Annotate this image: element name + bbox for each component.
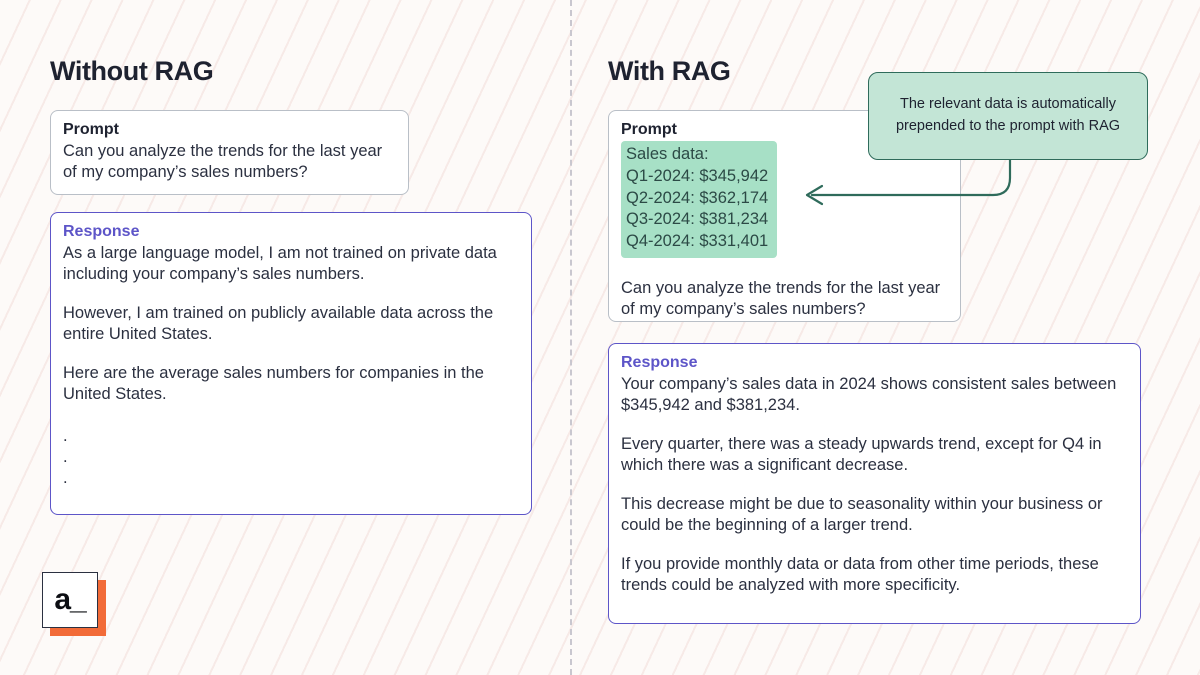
panel-divider bbox=[570, 0, 572, 675]
right-response-paragraph-4: If you provide monthly data or data from… bbox=[621, 554, 1128, 597]
ellipsis-dot: . bbox=[63, 470, 519, 491]
right-response-label: Response bbox=[621, 353, 1128, 373]
logo-mark: a_ bbox=[42, 572, 98, 628]
left-prompt-box[interactable]: Prompt Can you analyze the trends for th… bbox=[50, 110, 409, 195]
callout-text: The relevant data is automatically prepe… bbox=[869, 94, 1147, 138]
left-response-paragraph-3: Here are the average sales numbers for c… bbox=[63, 363, 519, 406]
right-prompt-text: Can you analyze the trends for the last … bbox=[621, 278, 948, 321]
right-response-paragraph-1: Your company’s sales data in 2024 shows … bbox=[621, 374, 1128, 417]
ellipsis-dot: . bbox=[63, 428, 519, 449]
left-response-paragraph-2: However, I am trained on publicly availa… bbox=[63, 303, 519, 346]
panel-without-rag: Without RAG bbox=[50, 56, 540, 87]
left-prompt-text: Can you analyze the trends for the last … bbox=[63, 141, 396, 184]
right-response-paragraph-3: This decrease might be due to seasonalit… bbox=[621, 494, 1128, 537]
heading-without-rag: Without RAG bbox=[50, 56, 540, 87]
right-response-paragraph-2: Every quarter, there was a steady upward… bbox=[621, 434, 1128, 477]
logo: a_ bbox=[42, 572, 98, 628]
left-response-box[interactable]: Response As a large language model, I am… bbox=[50, 212, 532, 515]
left-response-paragraph-1: As a large language model, I am not trai… bbox=[63, 243, 519, 286]
left-response-ellipsis: . . . bbox=[63, 428, 519, 491]
left-prompt-label: Prompt bbox=[63, 120, 396, 140]
ellipsis-dot: . bbox=[63, 449, 519, 470]
retrieved-sales-data: Sales data: Q1-2024: $345,942 Q2-2024: $… bbox=[621, 141, 777, 258]
callout-box: The relevant data is automatically prepe… bbox=[868, 72, 1148, 160]
right-response-box[interactable]: Response Your company’s sales data in 20… bbox=[608, 343, 1141, 624]
left-response-label: Response bbox=[63, 222, 519, 242]
